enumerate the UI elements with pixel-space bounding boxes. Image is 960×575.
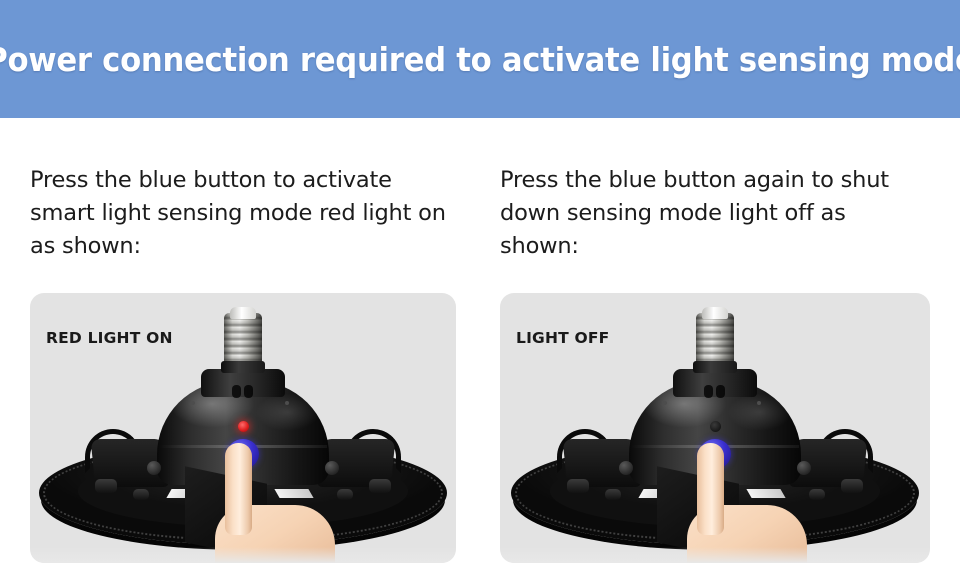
screw-base-e26-icon — [696, 313, 734, 365]
panel-bottom-fade — [500, 547, 930, 563]
lamp-body-screw — [191, 401, 195, 405]
screw-base-e26-icon — [224, 313, 262, 365]
product-instruction-graphic: Power connection required to activate li… — [0, 0, 960, 575]
pressing-hand — [687, 443, 837, 563]
disc-mount-post — [133, 489, 149, 500]
lamp-neck — [673, 369, 757, 397]
red-indicator-led — [238, 421, 249, 432]
screw-base-collar — [221, 361, 265, 373]
step-caption-right: Press the blue button again to shut down… — [500, 164, 930, 263]
banner-title: Power connection required to activate li… — [0, 40, 960, 79]
lamp-vent-icon — [244, 385, 253, 398]
bracket-pivot-knob-left — [147, 461, 161, 475]
instruction-columns: Press the blue button to activate smart … — [0, 118, 960, 575]
lamp-vent-icon — [232, 385, 241, 398]
step-caption-left: Press the blue button to activate smart … — [30, 164, 448, 263]
index-finger — [225, 443, 252, 535]
header-banner: Power connection required to activate li… — [0, 0, 960, 118]
disc-mount-post — [605, 489, 621, 500]
screw-base-tip-icon — [230, 307, 256, 319]
product-photo-panel-left: RED LIGHT ON — [30, 293, 456, 563]
lamp-body-screw — [285, 401, 289, 405]
lamp-vent-icon — [704, 385, 713, 398]
lamp-body-screw — [757, 401, 761, 405]
lamp-neck — [201, 369, 285, 397]
screw-base-collar — [693, 361, 737, 373]
disc-mount-post — [567, 479, 589, 493]
panel-label-red-light-on: RED LIGHT ON — [46, 329, 173, 347]
red-indicator-led — [710, 421, 721, 432]
lamp-body-screw — [663, 401, 667, 405]
disc-mount-post — [95, 479, 117, 493]
panel-label-light-off: LIGHT OFF — [516, 329, 609, 347]
panel-bottom-fade — [30, 547, 456, 563]
disc-mount-post — [841, 479, 863, 493]
index-finger — [697, 443, 724, 535]
pressing-hand — [215, 443, 365, 563]
screw-base-tip-icon — [702, 307, 728, 319]
lamp-vent-icon — [716, 385, 725, 398]
product-photo-panel-right: LIGHT OFF — [500, 293, 930, 563]
disc-mount-post — [369, 479, 391, 493]
bracket-pivot-knob-left — [619, 461, 633, 475]
